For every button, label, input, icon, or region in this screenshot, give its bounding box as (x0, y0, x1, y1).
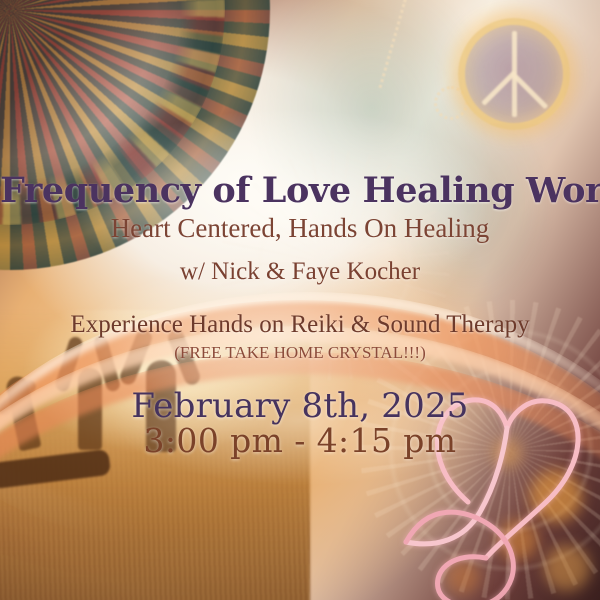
bonus-text: (FREE TAKE HOME CRYSTAL!!!) (0, 343, 600, 363)
event-date: February 8th, 2025 (0, 386, 600, 426)
page-subtitle: Heart Centered, Hands On Healing (0, 213, 600, 244)
page-title: Frequency of Love Healing Workshop (0, 170, 600, 211)
offering-text: Experience Hands on Reiki & Sound Therap… (0, 311, 600, 339)
event-time: 3:00 pm - 4:15 pm (0, 421, 600, 460)
flyer-text-block: Frequency of Love Healing Workshop Heart… (0, 0, 600, 600)
event-flyer: Frequency of Love Healing Workshop Heart… (0, 0, 600, 600)
host-names: w/ Nick & Faye Kocher (0, 258, 600, 286)
